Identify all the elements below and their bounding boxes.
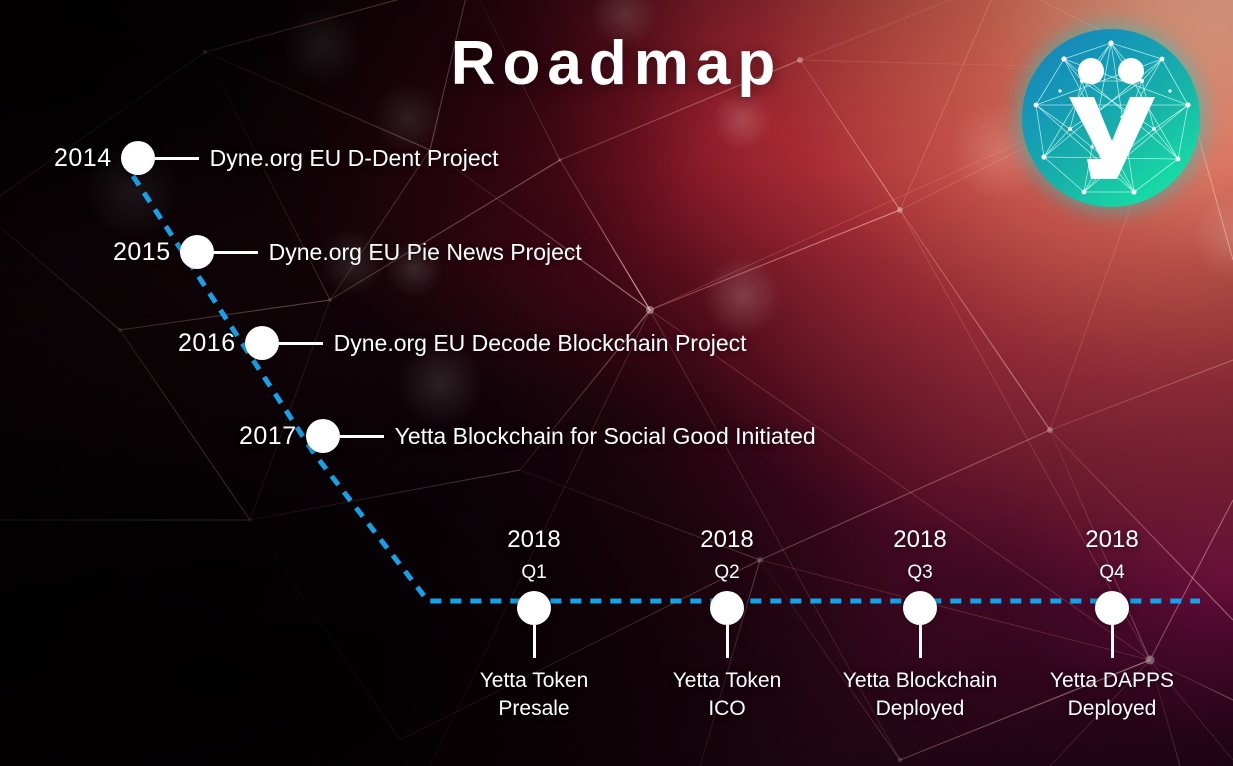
quarter-year: 2018 [810,528,1030,552]
quarter-label: Q4 [1002,563,1222,582]
y-diaeresis-icon [1057,55,1165,181]
quarter-description: Yetta Token Presale [424,667,644,723]
quarter-label: Q3 [810,563,1030,582]
milestone-connector [155,157,199,160]
milestone-year: 2016 [178,329,236,358]
logo-disc [1022,29,1200,207]
roadmap-infographic: Roadmap [0,0,1233,766]
milestone-dot[interactable] [306,419,340,453]
milestone-label: Yetta Blockchain for Social Good Initiat… [395,423,816,450]
milestone-connector [214,251,258,254]
quarter-year: 2018 [617,528,837,552]
quarter-stem [919,625,922,658]
milestone-label: Dyne.org EU Pie News Project [269,239,582,266]
milestone-year: 2014 [54,144,112,173]
milestone-dot[interactable] [245,326,279,360]
yetta-logo [1022,29,1200,207]
quarter-year: 2018 [424,528,644,552]
quarter-description: Yetta Token ICO [617,667,837,723]
quarter-stem [533,625,536,658]
quarter-marker[interactable]: 2018 Q2 Yetta Token ICO [617,528,837,723]
quarter-label: Q2 [617,563,837,582]
milestone-connector [279,342,323,345]
quarter-marker[interactable]: 2018 Q4 Yetta DAPPS Deployed [1002,528,1222,723]
milestone-year: 2015 [113,238,171,267]
logo-glyph [1022,29,1200,207]
milestone-label: Dyne.org EU D-Dent Project [210,145,499,172]
quarter-marker[interactable]: 2018 Q1 Yetta Token Presale [424,528,644,723]
quarter-description: Yetta DAPPS Deployed [1002,667,1222,723]
quarter-stem [1111,625,1114,658]
milestone-row[interactable]: 2017 Yetta Blockchain for Social Good In… [239,418,816,454]
milestone-connector [340,435,384,438]
quarter-year: 2018 [1002,528,1222,552]
quarter-dot[interactable] [903,591,937,625]
milestone-row[interactable]: 2016 Dyne.org EU Decode Blockchain Proje… [178,325,747,361]
milestone-dot[interactable] [180,235,214,269]
milestone-row[interactable]: 2015 Dyne.org EU Pie News Project [113,234,582,270]
quarter-dot[interactable] [517,591,551,625]
quarter-description: Yetta Blockchain Deployed [810,667,1030,723]
quarter-marker[interactable]: 2018 Q3 Yetta Blockchain Deployed [810,528,1030,723]
milestone-row[interactable]: 2014 Dyne.org EU D-Dent Project [54,140,499,176]
milestone-dot[interactable] [121,141,155,175]
milestone-label: Dyne.org EU Decode Blockchain Project [334,330,747,357]
quarter-dot[interactable] [710,591,744,625]
milestone-year: 2017 [239,422,297,451]
quarter-stem [726,625,729,658]
quarter-label: Q1 [424,563,644,582]
quarter-dot[interactable] [1095,591,1129,625]
